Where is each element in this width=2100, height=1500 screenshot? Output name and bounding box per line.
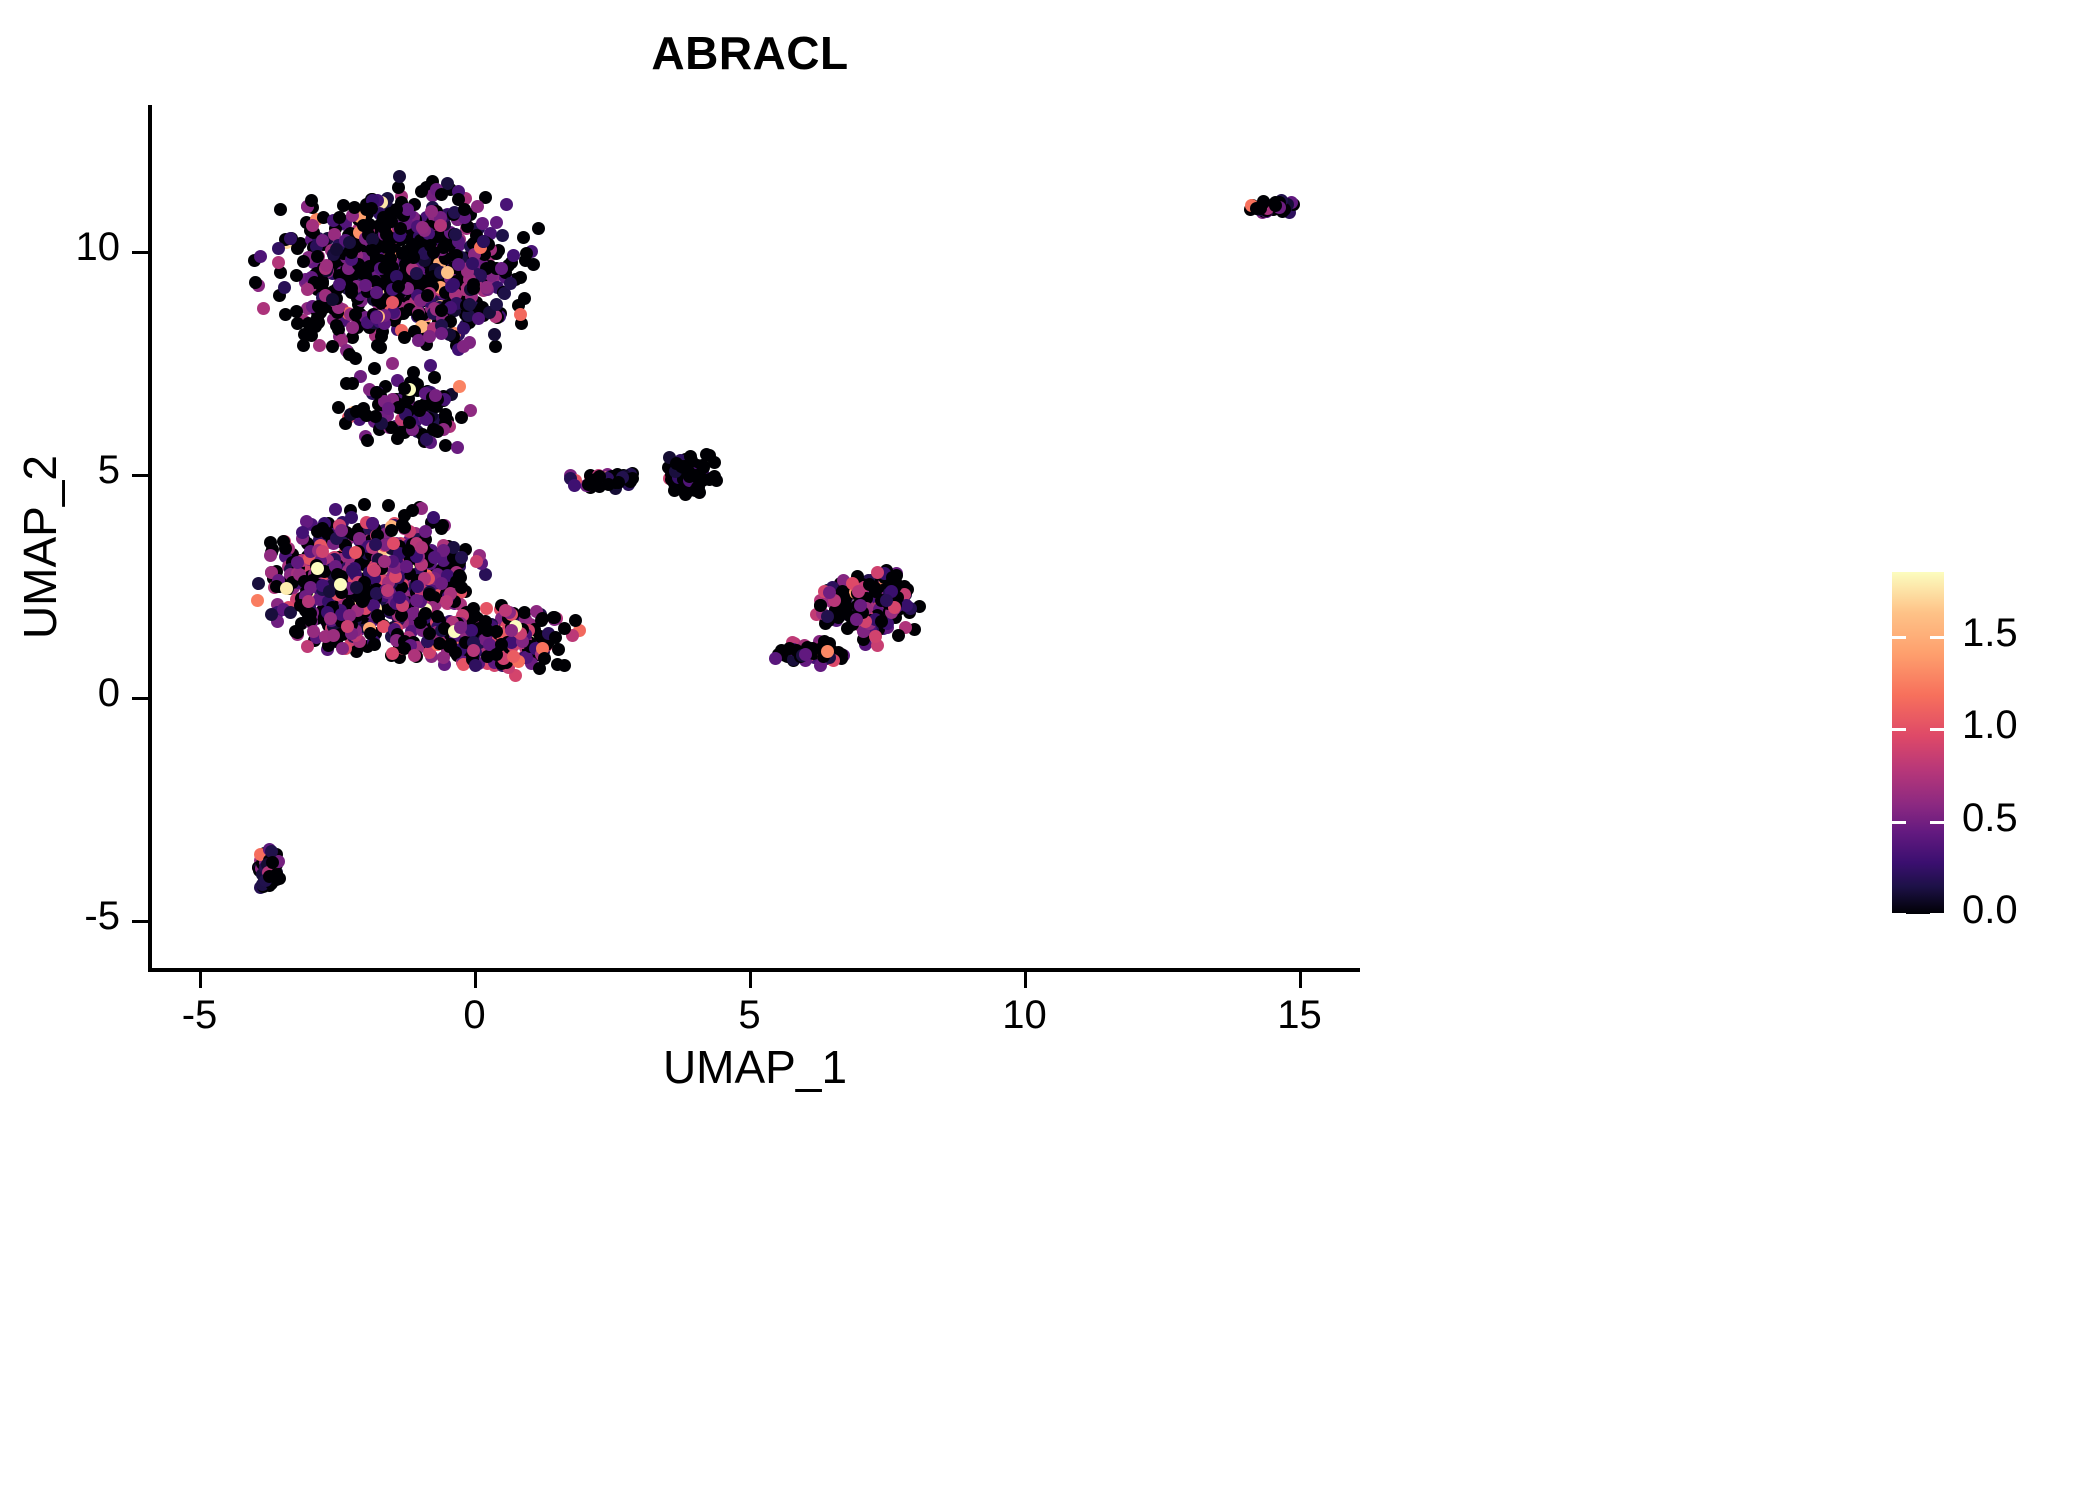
y-tick-mark xyxy=(132,697,148,700)
scatter-point xyxy=(254,250,267,263)
x-tick-mark xyxy=(199,972,202,988)
scatter-point xyxy=(359,279,372,292)
scatter-point xyxy=(463,298,476,311)
scatter-point xyxy=(403,416,416,429)
colorbar-tick-label: 1.5 xyxy=(1962,611,2018,656)
scatter-point xyxy=(435,188,448,201)
scatter-point xyxy=(476,217,489,230)
scatter-point xyxy=(471,200,484,213)
scatter-point xyxy=(346,564,359,577)
colorbar-tick-mark xyxy=(1930,913,1944,916)
scatter-point xyxy=(480,281,493,294)
scatter-point xyxy=(330,243,343,256)
scatter-point xyxy=(453,569,466,582)
scatter-point xyxy=(380,239,393,252)
scatter-point xyxy=(467,644,480,657)
y-tick-mark xyxy=(132,251,148,254)
scatter-point xyxy=(593,470,606,483)
scatter-point xyxy=(251,594,264,607)
scatter-point xyxy=(301,283,314,296)
x-tick-label: 5 xyxy=(690,993,810,1038)
scatter-point xyxy=(840,600,853,613)
scatter-point xyxy=(439,439,452,452)
scatter-point xyxy=(489,340,502,353)
x-tick-label: 10 xyxy=(965,993,1085,1038)
scatter-point xyxy=(449,646,462,659)
scatter-point xyxy=(612,476,625,489)
scatter-point xyxy=(402,544,415,557)
scatter-point xyxy=(335,524,348,537)
scatter-point xyxy=(356,595,369,608)
page-title: ABRACL xyxy=(0,26,1500,80)
scatter-point xyxy=(447,278,460,291)
scatter-point xyxy=(677,461,690,474)
x-axis-line xyxy=(148,968,1360,972)
scatter-point xyxy=(440,595,453,608)
scatter-point xyxy=(519,254,532,267)
x-tick-label: 0 xyxy=(415,993,535,1038)
colorbar-legend: 1.51.00.50.0 xyxy=(1892,572,1944,914)
scatter-point xyxy=(263,870,276,883)
scatter-point xyxy=(398,521,411,534)
y-tick-mark xyxy=(132,474,148,477)
scatter-point xyxy=(385,524,398,537)
scatter-point xyxy=(301,640,314,653)
scatter-point xyxy=(854,599,867,612)
scatter-point xyxy=(435,327,448,340)
scatter-point xyxy=(327,629,340,642)
scatter-point xyxy=(496,229,509,242)
scatter-point xyxy=(370,311,383,324)
scatter-point xyxy=(366,517,379,530)
scatter-point xyxy=(823,586,836,599)
scatter-point xyxy=(691,481,704,494)
scatter-point xyxy=(324,612,337,625)
scatter-point xyxy=(370,286,383,299)
scatter-point xyxy=(252,577,265,590)
colorbar-tick-mark xyxy=(1892,821,1906,824)
scatter-point xyxy=(386,296,399,309)
scatter-point xyxy=(769,652,782,665)
scatter-point xyxy=(336,642,349,655)
scatter-point xyxy=(434,219,447,232)
scatter-point xyxy=(378,261,391,274)
colorbar-tick-mark xyxy=(1892,636,1906,639)
scatter-point xyxy=(435,304,448,317)
scatter-point xyxy=(477,235,490,248)
scatter-point xyxy=(290,269,303,282)
scatter-point xyxy=(466,257,479,270)
scatter-point xyxy=(316,234,329,247)
scatter-point xyxy=(341,620,354,633)
scatter-point xyxy=(504,277,517,290)
scatter-point xyxy=(821,645,834,658)
scatter-point xyxy=(500,198,513,211)
scatter-point xyxy=(390,203,403,216)
scatter-point xyxy=(514,308,527,321)
scatter-point xyxy=(481,624,494,637)
colorbar-tick-mark xyxy=(1930,821,1944,824)
scatter-point xyxy=(428,371,441,384)
colorbar-tick-mark xyxy=(1930,636,1944,639)
scatter-point xyxy=(455,411,468,424)
y-axis-line xyxy=(148,105,152,972)
scatter-point xyxy=(410,267,423,280)
scatter-point xyxy=(393,591,406,604)
scatter-point xyxy=(427,511,440,524)
scatter-point xyxy=(348,201,361,214)
scatter-point xyxy=(370,386,383,399)
scatter-point xyxy=(382,402,395,415)
colorbar-tick-mark xyxy=(1892,913,1906,916)
scatter-point xyxy=(441,266,454,279)
scatter-point xyxy=(413,404,426,417)
scatter-point xyxy=(505,624,518,637)
scatter-point xyxy=(304,581,317,594)
x-tick-label: 15 xyxy=(1240,993,1360,1038)
colorbar-tick-label: 1.0 xyxy=(1962,703,2018,748)
scatter-point xyxy=(453,380,466,393)
scatter-point xyxy=(381,584,394,597)
scatter-point xyxy=(316,545,329,558)
scatter-point xyxy=(892,629,905,642)
x-axis-label: UMAP_1 xyxy=(150,1040,1360,1094)
scatter-point xyxy=(407,366,420,379)
scatter-point xyxy=(382,499,395,512)
scatter-point xyxy=(852,585,865,598)
scatter-point xyxy=(871,566,884,579)
scatter-point xyxy=(518,292,531,305)
scatter-point xyxy=(518,606,531,619)
scatter-point xyxy=(532,222,545,235)
scatter-point xyxy=(290,305,303,318)
scatter-point xyxy=(469,659,482,672)
scatter-point xyxy=(568,479,581,492)
scatter-point xyxy=(272,242,285,255)
colorbar-tick-label: 0.0 xyxy=(1962,888,2018,933)
scatter-point xyxy=(416,221,429,234)
y-tick-label: -5 xyxy=(0,894,120,939)
scatter-point xyxy=(272,256,285,269)
scatter-point xyxy=(507,650,520,663)
scatter-point xyxy=(349,308,362,321)
scatter-point xyxy=(449,228,462,241)
scatter-point xyxy=(368,362,381,375)
scatter-point xyxy=(488,328,501,341)
scatter-point xyxy=(284,232,297,245)
x-tick-mark xyxy=(474,972,477,988)
scatter-point xyxy=(375,330,388,343)
scatter-point xyxy=(349,546,362,559)
colorbar-tick-label: 0.5 xyxy=(1962,796,2018,841)
scatter-point xyxy=(454,621,467,634)
scatter-point xyxy=(428,551,441,564)
scatter-point xyxy=(400,560,413,573)
scatter-point xyxy=(386,357,399,370)
x-tick-label: -5 xyxy=(140,993,260,1038)
scatter-point xyxy=(393,170,406,183)
scatter-point xyxy=(326,340,339,353)
umap-scatter-plot: ABRACL -5051015 -50510 UMAP_1 UMAP_2 1.5… xyxy=(0,0,2100,1500)
scatter-point xyxy=(274,203,287,216)
x-tick-mark xyxy=(749,972,752,988)
scatter-point xyxy=(869,585,882,598)
scatter-point xyxy=(358,498,371,511)
scatter-point xyxy=(517,231,530,244)
scatter-point xyxy=(850,613,863,626)
scatter-point xyxy=(316,522,329,535)
scatter-point xyxy=(297,339,310,352)
colorbar-gradient xyxy=(1892,572,1944,914)
scatter-point xyxy=(552,643,565,656)
scatter-point xyxy=(569,614,582,627)
x-tick-mark xyxy=(1299,972,1302,988)
scatter-point xyxy=(451,441,464,454)
scatter-point xyxy=(799,648,812,661)
scatter-point xyxy=(302,595,315,608)
scatter-point xyxy=(345,511,358,524)
scatter-point xyxy=(311,562,324,575)
scatter-point xyxy=(499,604,512,617)
scatter-point xyxy=(291,556,304,569)
scatter-point xyxy=(558,659,571,672)
scatter-point xyxy=(278,281,291,294)
y-axis-label: UMAP_2 xyxy=(13,247,67,847)
scatter-point xyxy=(369,410,382,423)
scatter-point xyxy=(257,302,270,315)
scatter-point xyxy=(371,609,384,622)
scatter-point xyxy=(880,594,893,607)
scatter-point xyxy=(296,526,309,539)
scatter-point xyxy=(329,503,342,516)
scatter-point xyxy=(406,504,419,517)
scatter-point xyxy=(696,459,709,472)
scatter-point xyxy=(538,652,551,665)
scatter-points-layer xyxy=(150,105,1360,970)
scatter-point xyxy=(291,317,304,330)
scatter-point xyxy=(457,322,470,335)
colorbar-tick-mark xyxy=(1892,728,1906,731)
colorbar-tick-mark xyxy=(1930,728,1944,731)
scatter-point xyxy=(365,202,378,215)
scatter-point xyxy=(455,551,468,564)
x-tick-mark xyxy=(1024,972,1027,988)
scatter-point xyxy=(343,236,356,249)
scatter-point xyxy=(869,630,882,643)
scatter-point xyxy=(457,340,470,353)
scatter-point xyxy=(312,300,325,313)
scatter-point xyxy=(378,222,391,235)
scatter-point xyxy=(361,434,374,447)
y-tick-mark xyxy=(132,920,148,923)
scatter-point xyxy=(427,423,440,436)
scatter-point xyxy=(330,319,343,332)
scatter-point xyxy=(302,608,315,621)
scatter-point xyxy=(490,298,503,311)
scatter-point xyxy=(415,541,428,554)
scatter-point xyxy=(490,216,503,229)
scatter-point xyxy=(439,410,452,423)
scatter-point xyxy=(398,382,411,395)
scatter-point xyxy=(313,339,326,352)
scatter-point xyxy=(326,293,339,306)
scatter-point xyxy=(264,549,277,562)
scatter-point xyxy=(472,312,485,325)
scatter-point xyxy=(495,262,508,275)
plot-panel xyxy=(150,105,1360,970)
